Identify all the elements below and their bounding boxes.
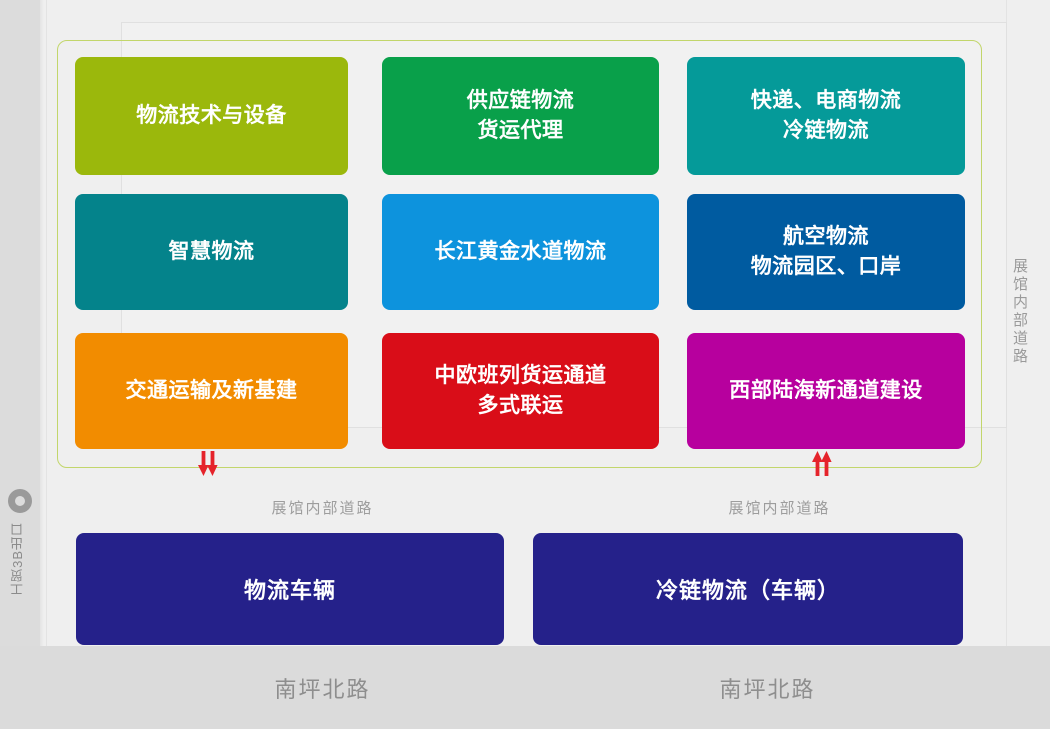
hall-logistics-vehicles[interactable]: 物流车辆 bbox=[76, 533, 504, 645]
booth-label: 交通运输及新基建 bbox=[126, 376, 298, 406]
bottom-road-label-right: 南坪北路 bbox=[640, 672, 895, 704]
booth-logistics-tech[interactable]: 物流技术与设备 bbox=[75, 57, 348, 175]
booth-china-europe-rail[interactable]: 中欧班列货运通道 多式联运 bbox=[382, 333, 659, 449]
inner-road-label-left: 展馆内部道路 bbox=[215, 497, 430, 518]
booth-label: 西部陆海新通道建设 bbox=[729, 376, 923, 406]
left-exit-rail bbox=[0, 0, 40, 729]
rail-edge-shadow bbox=[40, 0, 44, 729]
booth-express-ecommerce[interactable]: 快递、电商物流 冷链物流 bbox=[687, 57, 965, 175]
bottom-road-label-left: 南坪北路 bbox=[195, 672, 450, 704]
booth-air-logistics[interactable]: 航空物流 物流园区、口岸 bbox=[687, 194, 965, 310]
booth-label: 航空物流 物流园区、口岸 bbox=[751, 222, 902, 282]
booth-label: 快递、电商物流 冷链物流 bbox=[751, 86, 902, 146]
circle-exit-icon bbox=[8, 489, 32, 513]
exit-label: 工贸3B出口 bbox=[10, 522, 30, 596]
booth-supply-chain[interactable]: 供应链物流 货运代理 bbox=[382, 57, 659, 175]
booth-yangtze-waterway[interactable]: 长江黄金水道物流 bbox=[382, 194, 659, 310]
booth-label: 长江黄金水道物流 bbox=[435, 237, 607, 267]
booth-label: 供应链物流 货运代理 bbox=[467, 86, 575, 146]
booth-smart-logistics[interactable]: 智慧物流 bbox=[75, 194, 348, 310]
right-road-label: 展馆内部道路 bbox=[1008, 258, 1030, 366]
hall-cold-chain-vehicles[interactable]: 冷链物流（车辆） bbox=[533, 533, 963, 645]
hall-label: 冷链物流（车辆） bbox=[656, 573, 840, 605]
booth-grid: 物流技术与设备 供应链物流 货运代理 快递、电商物流 冷链物流 智慧物流 长江黄… bbox=[75, 57, 965, 449]
booth-label: 中欧班列货运通道 多式联运 bbox=[435, 361, 607, 421]
booth-label: 物流技术与设备 bbox=[136, 101, 287, 131]
booth-label: 智慧物流 bbox=[169, 237, 255, 267]
booth-transport-infra[interactable]: 交通运输及新基建 bbox=[75, 333, 348, 449]
floorplan-canvas: 工贸3B出口 物流技术与设备 供应链物流 货运代理 快递、电商物流 冷链物流 智… bbox=[0, 0, 1050, 729]
inner-road-label-right: 展馆内部道路 bbox=[672, 497, 887, 518]
hall-label: 物流车辆 bbox=[244, 573, 336, 605]
booth-west-land-sea[interactable]: 西部陆海新通道建设 bbox=[687, 333, 965, 449]
